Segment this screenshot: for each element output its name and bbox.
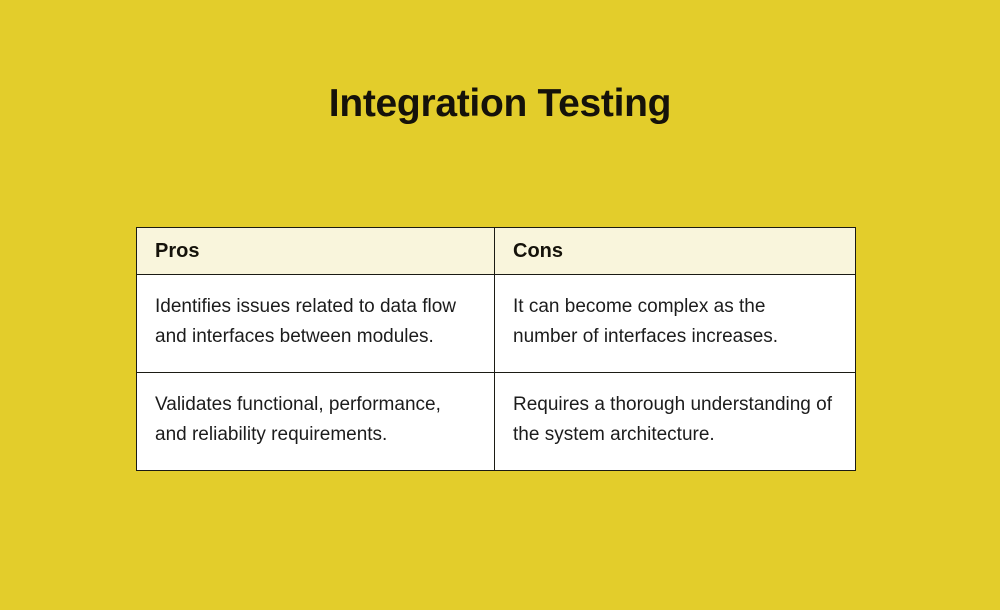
cell-cons: Requires a thorough understanding of the… [495,373,856,471]
column-header-pros: Pros [137,228,495,275]
column-header-cons: Cons [495,228,856,275]
pros-cons-table-wrapper: Pros Cons Identifies issues related to d… [136,227,855,471]
cell-text: Identifies issues related to data flow a… [155,292,472,352]
cell-text: It can become complex as the number of i… [513,292,833,352]
cell-pros: Identifies issues related to data flow a… [137,275,495,373]
slide-canvas: Integration Testing Pros Cons Identifies… [0,0,1000,610]
pros-cons-table: Pros Cons Identifies issues related to d… [136,227,856,471]
cell-pros: Validates functional, performance, and r… [137,373,495,471]
table-row: Validates functional, performance, and r… [137,373,856,471]
table-body: Identifies issues related to data flow a… [137,275,856,471]
table-row: Identifies issues related to data flow a… [137,275,856,373]
page-title: Integration Testing [0,82,1000,127]
cell-cons: It can become complex as the number of i… [495,275,856,373]
cell-text: Validates functional, performance, and r… [155,390,472,450]
table-header: Pros Cons [137,228,856,275]
table-header-row: Pros Cons [137,228,856,275]
cell-text: Requires a thorough understanding of the… [513,390,833,450]
